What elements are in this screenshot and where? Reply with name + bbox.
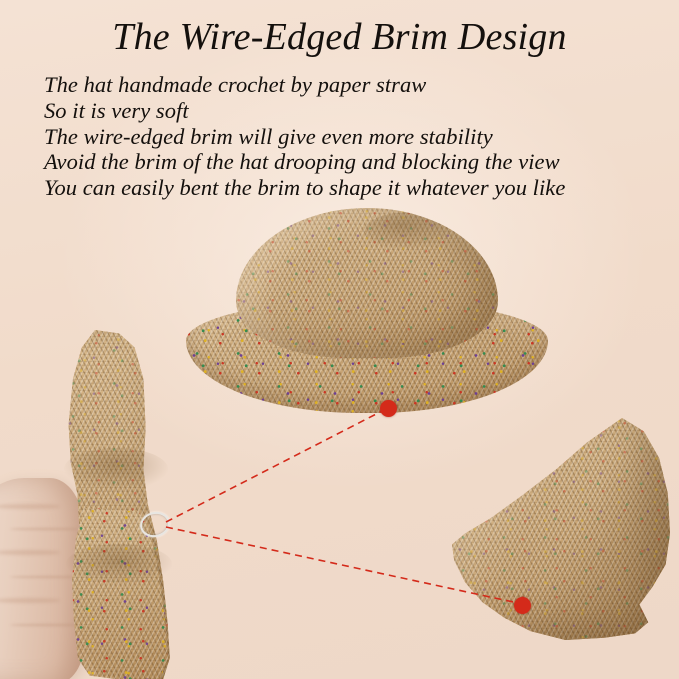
hat-crown [236,208,498,358]
feature-line: The wire-edged brim will give even more … [44,124,659,150]
hand-crease [0,598,60,603]
bent-hat-shading [452,418,670,640]
crown-dimple [364,212,456,250]
feature-line: So it is very soft [44,98,659,124]
hand-crease [0,504,60,509]
page-title: The Wire-Edged Brim Design [0,14,679,60]
bent-hat-body [452,418,670,640]
product-feature-poster: The Wire-Edged Brim Design The hat handm… [0,0,679,679]
crochet-bucket-hat-flat-brim-image [186,208,548,413]
brim-wire-marker-bent [514,597,531,614]
rolled-hat-bundle [62,330,172,679]
feature-list: The hat handmade crochet by paper straw … [44,72,659,201]
bent-hat-fleck-texture [452,418,670,640]
feature-line: The hat handmade crochet by paper straw [44,72,659,98]
feature-line: Avoid the brim of the hat drooping and b… [44,149,659,175]
feature-line: You can easily bent the brim to shape it… [44,175,659,201]
hand-crease [0,550,60,555]
crochet-bucket-hat-bent-brim-image [452,418,670,640]
brim-wire-marker-top [380,400,397,417]
rolled-hat-in-hand-image [0,330,200,679]
